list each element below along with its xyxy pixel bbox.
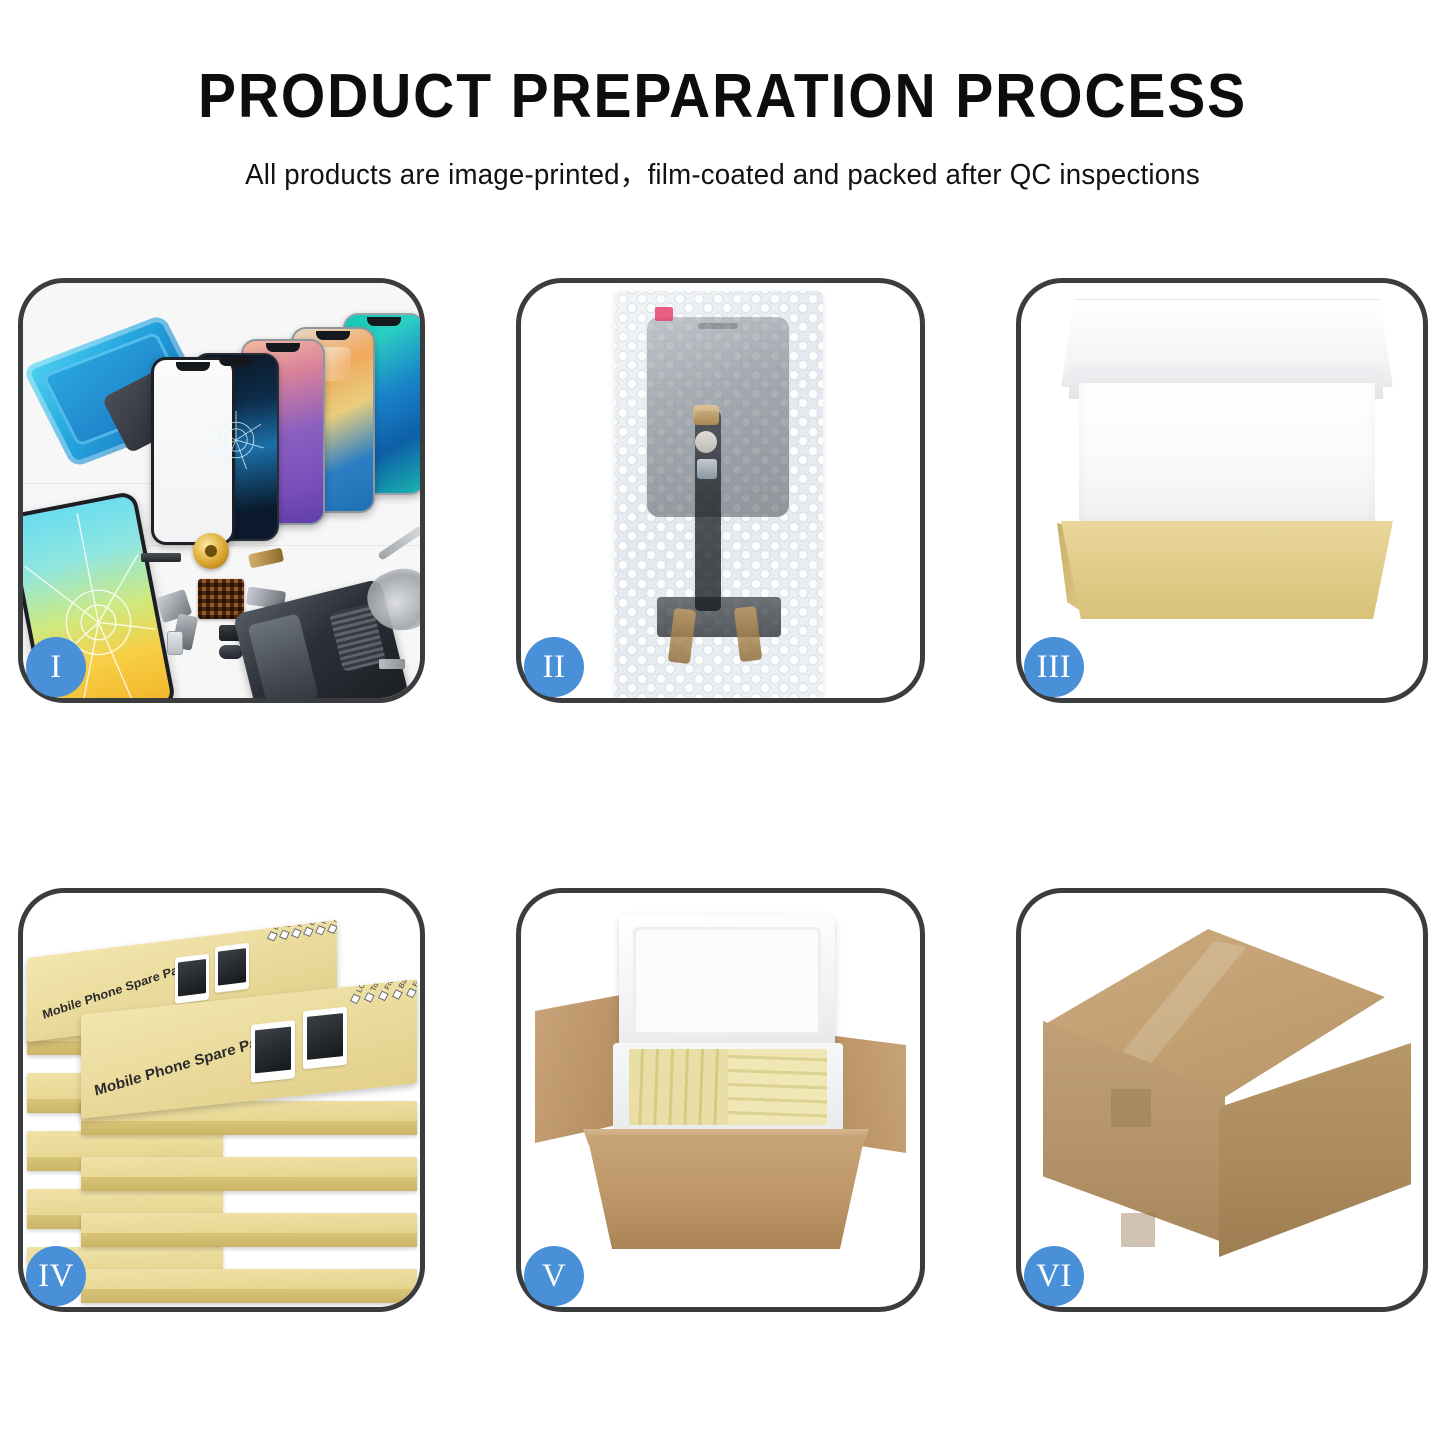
step-4-image: Mobile Phone Spare Parts LCD Digitizer T…: [23, 893, 420, 1307]
step-3-image: [1021, 283, 1423, 698]
notch-icon: [266, 343, 300, 352]
box-thumb-image: [215, 943, 249, 993]
wireless-coil-part: [193, 533, 229, 569]
stacked-box: [81, 1269, 417, 1303]
process-steps-grid: Mobile Phone Spare Parts LCD Digitizer T…: [0, 0, 1445, 1445]
home-button-part: [695, 431, 717, 453]
step-badge-5: V: [524, 1246, 584, 1306]
step-badge-3: III: [1024, 637, 1084, 697]
step-badge-1: I: [26, 637, 86, 697]
packed-yellow-boxes: [629, 1049, 827, 1125]
foam-cooler-lid: [619, 915, 835, 1051]
step-panel-3: [1016, 278, 1428, 703]
step-5-image: [521, 893, 920, 1307]
step-panel-2: [516, 278, 925, 703]
step-badge-6: VI: [1024, 1246, 1084, 1306]
notch-icon: [367, 317, 401, 326]
step-panel-4: Mobile Phone Spare Parts LCD Digitizer T…: [18, 888, 425, 1312]
step-6-image: [1021, 893, 1423, 1307]
step-badge-4: IV: [26, 1246, 86, 1306]
bubble-wrap-bag: [615, 291, 823, 698]
kraft-box-front: [1061, 521, 1393, 619]
step-panel-5: [516, 888, 925, 1312]
button-part: [219, 645, 243, 659]
crack-icon: [203, 407, 269, 473]
box-thumb-image: [251, 1020, 295, 1083]
gold-contact: [693, 405, 719, 425]
chip-array-part: [198, 579, 244, 619]
earpiece-speaker-part: [141, 553, 181, 562]
tape-patch: [1121, 1213, 1155, 1247]
sim-tray-part: [167, 631, 183, 655]
box-thumb-image: [303, 1007, 347, 1070]
notch-icon: [316, 331, 350, 340]
box-thumb-image: [175, 954, 209, 1004]
ic-chip-part: [697, 459, 717, 479]
tape-patch: [1111, 1089, 1151, 1127]
pink-label-tab: [655, 307, 673, 321]
white-foam-pad: [1079, 383, 1375, 531]
step-2-image: [521, 283, 920, 698]
stacked-box: [81, 1157, 417, 1191]
step-1-image: [23, 283, 420, 698]
stacked-box: [81, 1213, 417, 1247]
phone-fan-group: [163, 313, 420, 518]
notch-icon: [176, 362, 210, 371]
carton-front: [587, 1135, 865, 1249]
step-panel-1: [18, 278, 425, 703]
step-panel-6: [1016, 888, 1428, 1312]
screws-part: [379, 659, 405, 669]
notch-icon: [219, 357, 253, 366]
step-badge-2: II: [524, 637, 584, 697]
